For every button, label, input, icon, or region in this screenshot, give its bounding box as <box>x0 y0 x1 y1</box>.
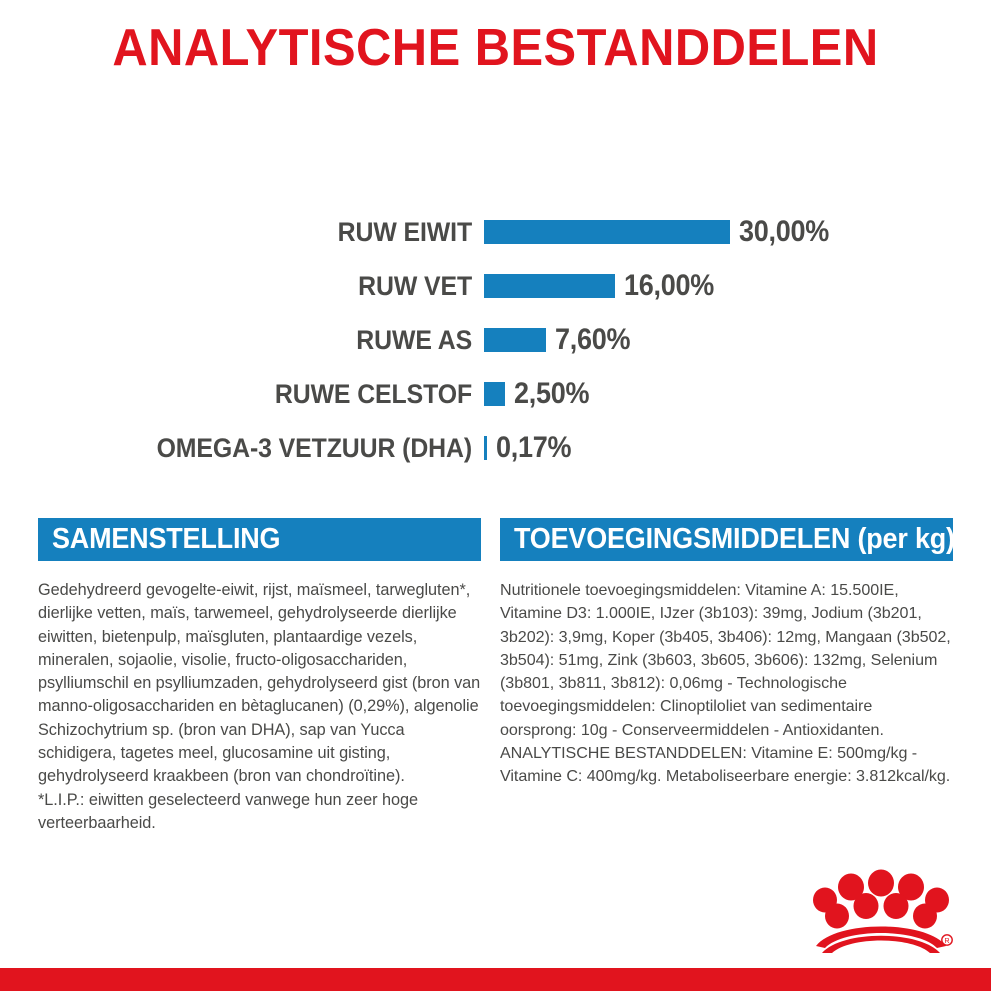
additives-heading-label: TOEVOEGINGSMIDDELEN (per kg) <box>514 518 953 561</box>
composition-body: Gedehydreerd gevogelte-eiwit, rijst, maï… <box>38 579 481 835</box>
chart-row: RUWE CELSTOF 2,50% <box>0 367 991 421</box>
bar-label: RUW EIWIT <box>39 217 484 248</box>
bar-label: RUW VET <box>39 271 484 302</box>
bar-wrap: 7,60% <box>484 323 991 357</box>
bottom-red-bar <box>0 968 991 991</box>
bar-crude-fibre <box>484 382 505 406</box>
chart-row: RUW VET 16,00% <box>0 259 991 313</box>
bar-wrap: 30,00% <box>484 215 991 249</box>
svg-text:R: R <box>944 938 949 945</box>
bar-crude-protein <box>484 220 730 244</box>
bar-wrap: 0,17% <box>484 431 991 465</box>
bar-value: 2,50% <box>514 377 589 411</box>
chart-row: RUWE AS 7,60% <box>0 313 991 367</box>
bar-omega-3-dha <box>484 436 487 460</box>
bar-label: OMEGA-3 VETZUUR (DHA) <box>39 433 484 464</box>
composition-heading: SAMENSTELLING <box>38 518 481 561</box>
page-title: ANALYTISCHE BESTANDDELEN <box>30 22 962 74</box>
bar-label: RUWE AS <box>39 325 484 356</box>
additives-body: Nutritionele toevoegingsmiddelen: Vitami… <box>500 579 953 789</box>
bar-crude-fat <box>484 274 615 298</box>
additives-column: TOEVOEGINGSMIDDELEN (per kg) Nutritionel… <box>500 518 953 835</box>
bar-value: 16,00% <box>624 269 714 303</box>
chart-row: RUW EIWIT 30,00% <box>0 205 991 259</box>
chart-row: OMEGA-3 VETZUUR (DHA) 0,17% <box>0 421 991 475</box>
bar-value: 7,60% <box>555 323 630 357</box>
royal-canin-crown-logo: R <box>806 868 956 953</box>
info-columns: SAMENSTELLING Gedehydreerd gevogelte-eiw… <box>38 518 953 835</box>
additives-heading: TOEVOEGINGSMIDDELEN (per kg) <box>500 518 953 561</box>
bar-value: 0,17% <box>496 431 571 465</box>
analytical-constituents-chart: RUW EIWIT 30,00% RUW VET 16,00% RUWE AS … <box>0 205 991 475</box>
bar-value: 30,00% <box>739 215 829 249</box>
bar-crude-ash <box>484 328 546 352</box>
bar-wrap: 16,00% <box>484 269 991 303</box>
composition-heading-label: SAMENSTELLING <box>52 518 280 561</box>
composition-column: SAMENSTELLING Gedehydreerd gevogelte-eiw… <box>38 518 481 835</box>
bar-label: RUWE CELSTOF <box>39 379 484 410</box>
bar-wrap: 2,50% <box>484 377 991 411</box>
